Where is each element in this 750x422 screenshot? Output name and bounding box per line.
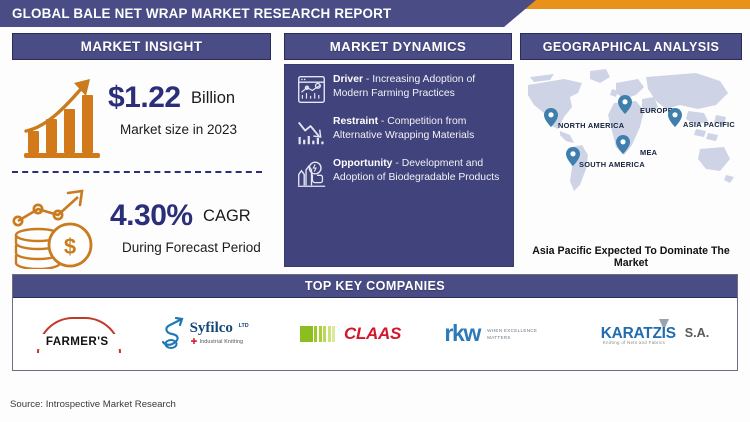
map-label-mea: MEA	[640, 148, 657, 157]
company-logo-rkw[interactable]: rkw WHEN EXCELLENCE MATTERS	[444, 321, 564, 347]
geographical-analysis-panel: GEOGRAPHICAL ANALYSIS	[520, 33, 742, 265]
claas-logo-text: CLAAS	[344, 324, 401, 344]
infographic-page: GLOBAL BALE NET WRAP MARKET RESEARCH REP…	[0, 0, 750, 422]
syfilco-logo-text: Syfilco	[190, 320, 233, 337]
top-key-companies-panel: TOP KEY COMPANIES FARMER'S Syfilco LTD	[12, 274, 738, 371]
page-title: GLOBAL BALE NET WRAP MARKET RESEARCH REP…	[12, 0, 391, 27]
browser-analytics-chart-icon	[291, 72, 331, 105]
dynamics-driver-dash: -	[363, 74, 372, 85]
claas-bars-icon	[300, 326, 337, 342]
hand-lightbulb-arrows-icon	[291, 156, 331, 189]
cagr-value: 4.30%	[110, 201, 193, 231]
karatzis-logo-tagline: Knitting of Nets and Fabrics	[603, 340, 665, 345]
world-map: NORTH AMERICA EUROPE ASIA PACIFIC MEA SO…	[520, 63, 742, 233]
rkw-tagline-line1: WHEN EXCELLENCE	[487, 328, 537, 335]
map-pin-icon-south-america[interactable]	[566, 147, 580, 171]
section-divider	[12, 171, 262, 173]
dynamics-item-opportunity: Opportunity - Development and Adoption o…	[285, 149, 513, 191]
map-label-south-america: SOUTH AMERICA	[579, 160, 645, 169]
geographical-analysis-heading: GEOGRAPHICAL ANALYSIS	[520, 33, 742, 60]
title-banner: GLOBAL BALE NET WRAP MARKET RESEARCH REP…	[0, 0, 750, 27]
company-logo-farmers[interactable]: FARMER'S	[31, 317, 123, 351]
karatzis-logo-suffix: S.A.	[685, 326, 710, 340]
svg-text:$: $	[64, 234, 76, 259]
market-insight-heading: MARKET INSIGHT	[12, 33, 271, 60]
dynamics-opportunity-dash: -	[392, 158, 401, 169]
syfilco-logo-suffix: LTD	[239, 323, 249, 329]
map-pin-icon-north-america[interactable]	[544, 108, 558, 132]
map-label-asia-pacific: ASIA PACIFIC	[683, 120, 735, 129]
dynamics-opportunity-label: Opportunity	[333, 158, 392, 169]
market-dynamics-heading: MARKET DYNAMICS	[284, 33, 512, 60]
market-size-figures: $1.22 Billion Market size in 2023	[108, 83, 273, 137]
syfilco-swirl-icon	[160, 317, 190, 351]
market-size-value: $1.22	[108, 83, 181, 113]
market-dynamics-body: Driver - Increasing Adoption of Modern F…	[284, 64, 514, 267]
dynamics-item-driver: Driver - Increasing Adoption of Modern F…	[285, 65, 513, 107]
cagr-row: $ 4.30% CAGR During Forecast Period	[12, 183, 271, 269]
map-label-north-america: NORTH AMERICA	[558, 121, 624, 130]
map-pin-icon-europe[interactable]	[618, 95, 632, 119]
company-logo-karatzis[interactable]: KARATZIS S.A. Knitting of Nets and Fabri…	[601, 319, 719, 349]
market-size-caption: Market size in 2023	[120, 122, 273, 137]
coins-growth-arrow-icon: $	[12, 183, 112, 269]
dynamics-opportunity-text: Opportunity - Development and Adoption o…	[331, 156, 505, 185]
orange-accent-bar	[525, 0, 750, 9]
dynamics-item-restraint: Restraint - Competition from Alternative…	[285, 107, 513, 149]
dynamics-restraint-text: Restraint - Competition from Alternative…	[331, 114, 505, 143]
map-pin-icon-asia-pacific[interactable]	[668, 108, 682, 132]
rkw-logo-text: rkw	[444, 322, 480, 345]
company-logo-list: FARMER'S Syfilco LTD ✚ Industrial Knitti…	[13, 297, 737, 370]
cagr-figures: 4.30% CAGR During Forecast Period	[110, 201, 275, 255]
dynamics-restraint-label: Restraint	[333, 116, 378, 127]
market-size-unit: Billion	[191, 89, 235, 108]
company-logo-syfilco[interactable]: Syfilco LTD ✚ Industrial Knitting	[160, 317, 264, 351]
cagr-unit: CAGR	[203, 207, 251, 226]
dynamics-restraint-dash: -	[378, 116, 387, 127]
top-key-companies-heading: TOP KEY COMPANIES	[13, 275, 737, 298]
company-logo-claas[interactable]: CLAAS	[300, 323, 408, 345]
farmers-logo-text: FARMER'S	[31, 334, 123, 349]
syfilco-logo-tagline: Industrial Knitting	[200, 339, 244, 345]
declining-bar-chart-icon	[291, 114, 331, 147]
bar-chart-growth-arrow-icon	[20, 69, 108, 161]
rkw-tagline-line2: MATTERS	[487, 335, 537, 342]
map-pin-icon-mea[interactable]	[616, 135, 630, 159]
cagr-caption: During Forecast Period	[122, 240, 275, 255]
dynamics-driver-text: Driver - Increasing Adoption of Modern F…	[331, 72, 505, 101]
geographical-analysis-caption: Asia Pacific Expected To Dominate The Ma…	[520, 245, 742, 269]
syfilco-cross-icon: ✚	[191, 338, 198, 346]
rkw-logo-tagline: WHEN EXCELLENCE MATTERS	[487, 325, 537, 341]
market-dynamics-panel: MARKET DYNAMICS	[284, 33, 512, 265]
source-note: Source: Introspective Market Research	[10, 399, 176, 410]
market-size-row: $1.22 Billion Market size in 2023	[12, 67, 271, 167]
market-insight-panel: MARKET INSIGHT $1.22	[12, 33, 271, 265]
dynamics-driver-label: Driver	[333, 74, 363, 85]
